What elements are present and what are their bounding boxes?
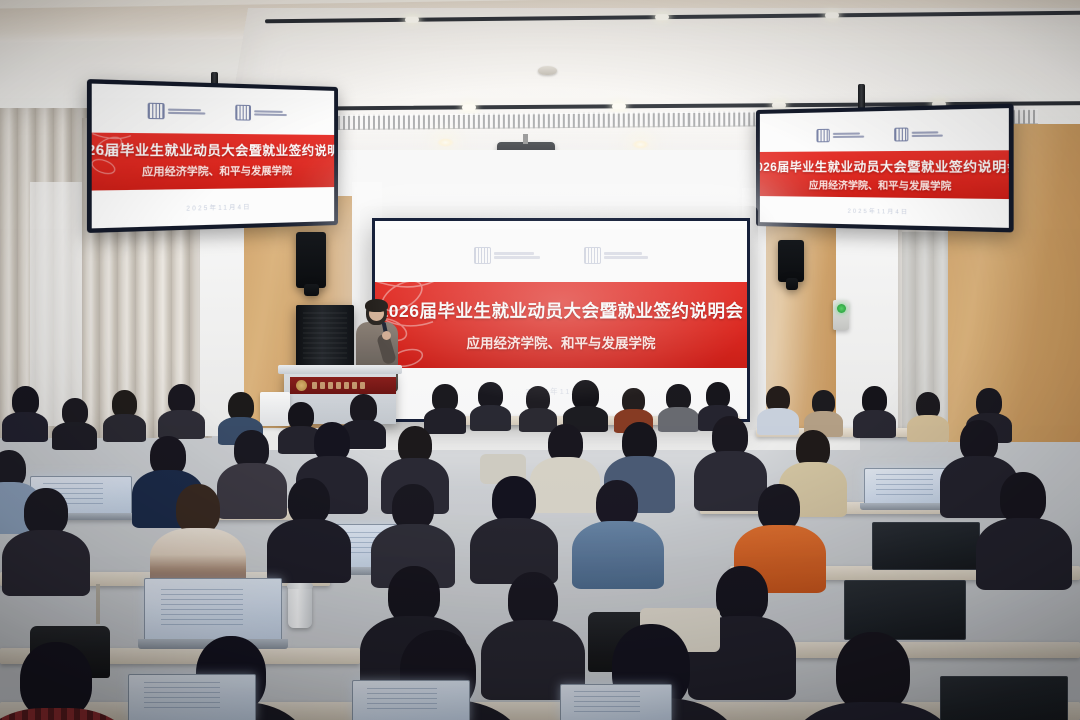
ceiling-downlight-2: [632, 140, 649, 149]
laptop: [560, 684, 672, 720]
laptop-closed: [844, 580, 966, 640]
right-display-subtitle: 应用经济学院、和平与发展学院: [809, 177, 952, 193]
left-wall-speaker-bracket: [304, 284, 319, 296]
left-display-subtitle: 应用经济学院、和平与发展学院: [142, 162, 292, 179]
left-display-title: 2026届毕业生就业动员大会暨就业签约说明会: [92, 144, 334, 159]
laptop: [144, 578, 282, 640]
university-logo-primary-icon: [817, 128, 865, 142]
smoke-detector-1: [538, 66, 557, 75]
main-slide-title: 2026届毕业生就业动员大会暨就业签约说明会: [379, 298, 744, 323]
laptop: [352, 680, 470, 720]
main-slide-logos: [375, 221, 747, 264]
cup: [288, 586, 312, 628]
podium-top: [278, 365, 402, 374]
speaker-hair: [365, 299, 388, 312]
speaker-hand: [382, 331, 391, 340]
laptop-closed: [872, 522, 980, 570]
university-logo-primary-icon: [148, 102, 206, 119]
right-display-title: 2026届毕业生就业动员大会暨就业签约说明会: [760, 156, 1009, 175]
left-display-logos: [92, 84, 334, 122]
right-display-logos: [760, 108, 1009, 143]
lecture-room: 2026届毕业生就业动员大会暨就业签约说明会 应用经济学院、和平与发展学院 20…: [0, 0, 1080, 720]
right-display-slide: 2026届毕业生就业动员大会暨就业签约说明会 应用经济学院、和平与发展学院 20…: [760, 108, 1009, 228]
main-slide-banner: 2026届毕业生就业动员大会暨就业签约说明会 应用经济学院、和平与发展学院: [375, 282, 747, 368]
right-wall-speaker: [778, 240, 804, 282]
laptop: [128, 674, 256, 720]
laptop-closed: [940, 676, 1068, 720]
audience-area: [0, 380, 1080, 720]
right-display-banner: 2026届毕业生就业动员大会暨就业签约说明会 应用经济学院、和平与发展学院: [760, 150, 1009, 199]
projector-stem: [523, 134, 528, 144]
right-wall-speaker-bracket: [786, 278, 798, 290]
university-logo-primary-icon: [474, 247, 540, 264]
emergency-indicator-box: [833, 300, 849, 330]
school-logo-secondary-icon: [894, 127, 943, 142]
right-display-date: 2025年11月4日: [760, 205, 1009, 228]
left-display-banner: 2026届毕业生就业动员大会暨就业签约说明会 应用经济学院、和平与发展学院: [92, 133, 334, 191]
school-logo-secondary-icon: [584, 247, 648, 264]
ceiling-downlight-1: [437, 138, 454, 147]
desk-leg: [96, 584, 100, 624]
left-wall-speaker: [296, 232, 326, 288]
main-slide-subtitle: 应用经济学院、和平与发展学院: [467, 332, 656, 352]
left-display-date: 2025年11月4日: [92, 200, 334, 228]
left-display: 2026届毕业生就业动员大会暨就业签约说明会 应用经济学院、和平与发展学院 20…: [87, 79, 338, 233]
right-display: 2026届毕业生就业动员大会暨就业签约说明会 应用经济学院、和平与发展学院 20…: [756, 104, 1014, 233]
exit-indicator-icon: [837, 304, 846, 313]
conference-photo: 2026届毕业生就业动员大会暨就业签约说明会 应用经济学院、和平与发展学院 20…: [0, 0, 1080, 720]
left-display-slide: 2026届毕业生就业动员大会暨就业签约说明会 应用经济学院、和平与发展学院 20…: [92, 84, 334, 229]
school-logo-secondary-icon: [235, 104, 287, 121]
